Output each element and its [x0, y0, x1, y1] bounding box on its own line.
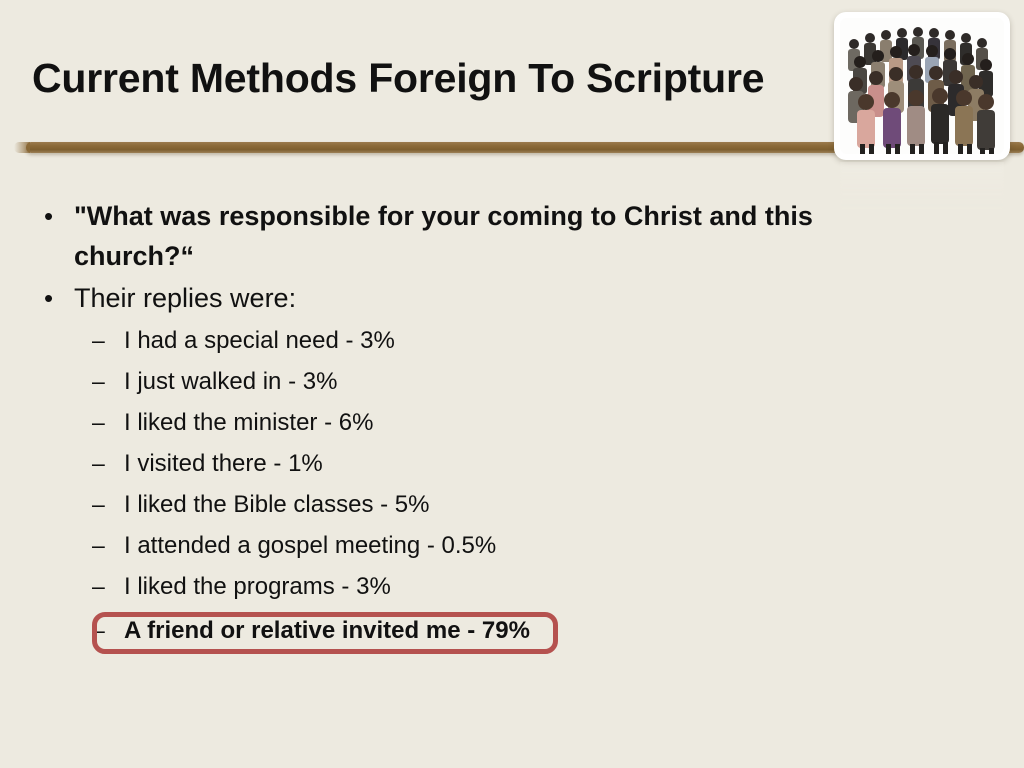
reply-item: – I liked the minister - 6%: [0, 402, 1024, 443]
dash-icon: –: [92, 610, 124, 651]
reply-text: A friend or relative invited me - 79%: [124, 610, 530, 651]
reply-item: – I liked the programs - 3%: [0, 566, 1024, 607]
reply-text: I had a special need - 3%: [124, 320, 395, 361]
reply-item: – I liked the Bible classes - 5%: [0, 484, 1024, 525]
bullet-replies-intro: • Their replies were:: [0, 278, 1024, 318]
reply-text: I just walked in - 3%: [124, 361, 337, 402]
bullet-dot-icon: •: [40, 196, 74, 236]
dash-icon: –: [92, 525, 124, 566]
reply-item: – I attended a gospel meeting - 0.5%: [0, 525, 1024, 566]
crowd-photo-container: [834, 12, 1010, 160]
reply-text: I liked the Bible classes - 5%: [124, 484, 429, 525]
photo-frame: [834, 12, 1010, 160]
slide-body: • "What was responsible for your coming …: [0, 196, 1024, 651]
crowd-illustration-icon: [840, 18, 1004, 154]
dash-icon: –: [92, 402, 124, 443]
dash-icon: –: [92, 443, 124, 484]
reply-text: I attended a gospel meeting - 0.5%: [124, 525, 496, 566]
bullet-replies-intro-text: Their replies were:: [74, 278, 296, 318]
reply-text: I visited there - 1%: [124, 443, 323, 484]
dash-icon: –: [92, 566, 124, 607]
reply-item-highlighted: – A friend or relative invited me - 79%: [0, 610, 1024, 651]
reply-text: I liked the minister - 6%: [124, 402, 373, 443]
reply-item: – I visited there - 1%: [0, 443, 1024, 484]
page-title: Current Methods Foreign To Scripture: [32, 56, 764, 102]
crowd-of-people-photo: [840, 18, 1004, 154]
presentation-slide: Current Methods Foreign To Scripture: [0, 0, 1024, 768]
bullet-dot-icon: •: [40, 278, 74, 318]
dash-icon: –: [92, 320, 124, 361]
dash-icon: –: [92, 361, 124, 402]
reply-item: – I had a special need - 3%: [0, 320, 1024, 361]
reply-text: I liked the programs - 3%: [124, 566, 391, 607]
reply-item: – I just walked in - 3%: [0, 361, 1024, 402]
bullet-question-text: "What was responsible for your coming to…: [74, 196, 884, 276]
dash-icon: –: [92, 484, 124, 525]
bullet-question: • "What was responsible for your coming …: [0, 196, 1024, 276]
